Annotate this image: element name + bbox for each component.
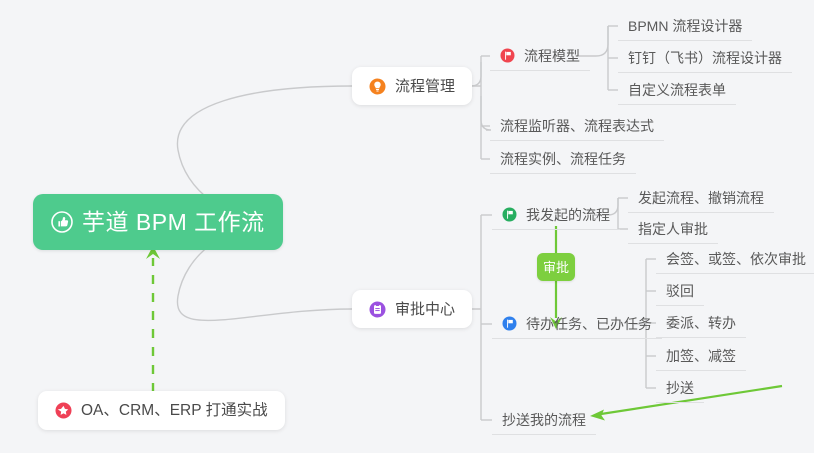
node-label: 待办任务、已办任务 <box>526 317 652 331</box>
node-label: 抄送我的流程 <box>502 413 586 427</box>
node-label: BPMN 流程设计器 <box>628 19 742 33</box>
node-label: 指定人审批 <box>638 222 708 236</box>
flag-icon <box>502 316 517 331</box>
star-icon <box>55 402 72 419</box>
root-node[interactable]: 芋道 BPM 工作流 <box>33 194 283 250</box>
node-my-initiated-process[interactable]: 我发起的流程 <box>492 200 620 230</box>
branch-label: 审批中心 <box>395 302 455 317</box>
node-carbon-copy[interactable]: 抄送 <box>656 373 704 403</box>
node-label: 发起流程、撤销流程 <box>638 191 764 205</box>
node-label: 加签、减签 <box>666 349 736 363</box>
node-label: 钉钉（飞书）流程设计器 <box>628 51 782 65</box>
root-label: 芋道 BPM 工作流 <box>82 211 265 234</box>
floating-node-label: OA、CRM、ERP 打通实战 <box>81 403 268 419</box>
flag-icon <box>500 48 515 63</box>
node-todo-done-tasks[interactable]: 待办任务、已办任务 <box>492 309 662 339</box>
approval-tag[interactable]: 审批 <box>537 253 575 281</box>
arrow-integration-to-root <box>146 246 160 392</box>
node-process-model[interactable]: 流程模型 <box>490 41 590 71</box>
branch-node-process-management[interactable]: 流程管理 <box>352 67 472 105</box>
node-dingtalk-feishu-designer[interactable]: 钉钉（飞书）流程设计器 <box>618 43 792 73</box>
node-delegate-transfer[interactable]: 委派、转办 <box>656 308 746 338</box>
node-label: 流程实例、流程任务 <box>500 152 626 166</box>
node-custom-process-form[interactable]: 自定义流程表单 <box>618 75 736 105</box>
clipboard-icon <box>369 301 386 318</box>
node-start-cancel-process[interactable]: 发起流程、撤销流程 <box>628 183 774 213</box>
node-cc-to-me-process[interactable]: 抄送我的流程 <box>492 405 596 435</box>
node-process-listener-expression[interactable]: 流程监听器、流程表达式 <box>490 111 664 141</box>
floating-node-integration[interactable]: OA、CRM、ERP 打通实战 <box>38 391 285 430</box>
approval-tag-label: 审批 <box>543 261 569 274</box>
node-assignee-approval[interactable]: 指定人审批 <box>628 214 718 244</box>
node-label: 我发起的流程 <box>526 208 610 222</box>
node-bpmn-designer[interactable]: BPMN 流程设计器 <box>618 11 752 41</box>
node-reject[interactable]: 驳回 <box>656 276 704 306</box>
branch-node-approval-center[interactable]: 审批中心 <box>352 290 472 328</box>
node-label: 自定义流程表单 <box>628 83 726 97</box>
node-process-instance-task[interactable]: 流程实例、流程任务 <box>490 144 636 174</box>
node-label: 抄送 <box>666 381 694 395</box>
node-label: 委派、转办 <box>666 316 736 330</box>
flag-icon <box>502 207 517 222</box>
node-label: 驳回 <box>666 284 694 298</box>
thumbs-up-icon <box>51 211 73 233</box>
node-countersign-approval[interactable]: 会签、或签、依次审批 <box>656 244 814 274</box>
node-add-remove-sign[interactable]: 加签、减签 <box>656 341 746 371</box>
mindmap-canvas: 芋道 BPM 工作流 流程管理 流程模型 BPMN 流程设计器 钉钉（飞书）流程 <box>0 0 814 453</box>
node-label: 会签、或签、依次审批 <box>666 252 806 266</box>
node-label: 流程模型 <box>524 49 580 63</box>
branch-label: 流程管理 <box>395 79 455 94</box>
lightbulb-icon <box>369 78 386 95</box>
node-label: 流程监听器、流程表达式 <box>500 119 654 133</box>
